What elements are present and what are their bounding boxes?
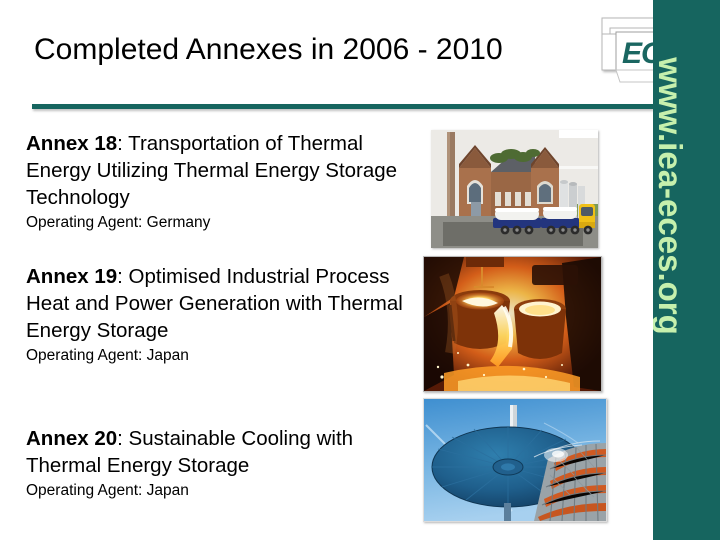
annex-19-agent: Operating Agent: Japan: [26, 346, 411, 365]
annex-20-number: Annex 20: [26, 427, 117, 450]
annex-block-19: Annex 19: Optimised Industrial Process H…: [26, 263, 411, 366]
annex-block-18: Annex 18: Transportation of Thermal Ener…: [26, 130, 411, 233]
annex-block-20: Annex 20: Sustainable Cooling with Therm…: [26, 425, 411, 500]
annex-19-photo: [423, 256, 602, 392]
annex-20-heading: Annex 20: Sustainable Cooling with Therm…: [26, 425, 411, 479]
sidebar-url-band: www.iea-eces.org: [653, 0, 720, 540]
annex-19-number: Annex 19: [26, 265, 117, 288]
sidebar-website-url[interactable]: www.iea-eces.org: [654, 57, 687, 335]
annex-20-agent: Operating Agent: Japan: [26, 481, 411, 500]
annex-18-agent: Operating Agent: Germany: [26, 213, 411, 232]
title-divider: [32, 104, 653, 109]
annex-19-heading: Annex 19: Optimised Industrial Process H…: [26, 263, 411, 344]
page-title: Completed Annexes in 2006 - 2010: [34, 33, 503, 68]
slide-canvas: Completed Annexes in 2006 - 2010 ECES: [0, 0, 720, 540]
annex-20-photo: [423, 398, 607, 522]
annex-18-photo: [431, 130, 598, 248]
annex-18-number: Annex 18: [26, 132, 117, 155]
annex-18-heading: Annex 18: Transportation of Thermal Ener…: [26, 130, 411, 211]
